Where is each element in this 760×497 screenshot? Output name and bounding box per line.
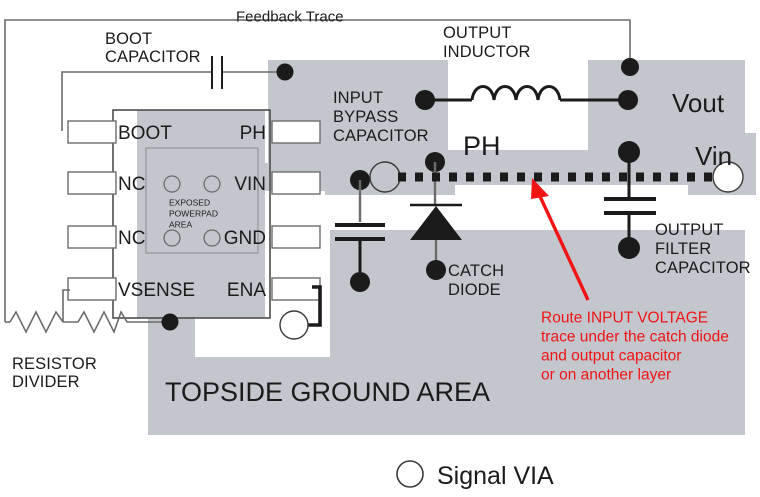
powerpad-label-line2: POWERPAD	[169, 208, 218, 218]
ph-node-label: PH	[463, 131, 501, 161]
catch-diode-label-line1: CATCH	[448, 262, 504, 280]
pin-label-boot: BOOT	[118, 123, 172, 144]
resistor-divider-label-line2: DIVIDER	[12, 373, 80, 391]
input-bypass-ground-pad	[350, 272, 370, 292]
pad-gnd	[272, 226, 320, 248]
output-filter-ground-pad	[618, 237, 640, 259]
resistor-divider-label-line1: RESISTOR	[12, 355, 97, 373]
inductor-coils	[472, 87, 560, 101]
pad-vsense	[68, 278, 116, 300]
route-note-line2: trace under the catch diode	[541, 328, 729, 345]
output-filter-label-line3: CAPACITOR	[655, 259, 751, 277]
route-note-line4: or on another layer	[541, 366, 671, 383]
topside-ground-area-label: TOPSIDE GROUND AREA	[165, 377, 490, 407]
pad-ena	[272, 278, 320, 300]
output-inductor-label-line1: OUTPUT	[443, 24, 511, 42]
route-note-line1: Route INPUT VOLTAGE	[541, 309, 708, 326]
catch-diode-ground-pad	[426, 260, 446, 280]
pin-label-ph: PH	[240, 123, 266, 144]
route-note-line3: and output capacitor	[541, 347, 681, 364]
pin-label-nc-1: NC	[118, 174, 145, 195]
pin-label-vsense: VSENSE	[118, 280, 195, 301]
pcb-layout-figure: Feedback Trace BOOT CAPACITOR BOOT NC NC…	[0, 0, 760, 497]
pin-label-ena: ENA	[227, 280, 266, 301]
input-bypass-label-line1: INPUT	[333, 89, 383, 107]
legend-signal-via-label: Signal VIA	[437, 462, 554, 490]
inductor-right-pad	[618, 90, 638, 110]
resistor-divider-ground-via	[162, 314, 179, 331]
output-filter-label-line2: FILTER	[655, 240, 711, 258]
legend-signal-via: Signal VIA	[397, 461, 554, 490]
feedback-trace-label: Feedback Trace	[236, 8, 344, 25]
vout-rail-label: Vout	[672, 88, 725, 118]
pad-boot	[68, 121, 116, 143]
output-filter-label-line1: OUTPUT	[655, 221, 723, 239]
pad-nc-1	[68, 172, 116, 194]
catch-diode-label-line2: DIODE	[448, 281, 501, 299]
feedback-trace-via	[621, 58, 639, 76]
input-bypass-label-line3: CAPACITOR	[333, 127, 429, 145]
ena-signal-via	[280, 311, 308, 339]
input-bypass-label-line2: BYPASS	[333, 108, 398, 126]
pad-ph	[272, 121, 320, 143]
resistor-upper	[10, 312, 63, 332]
pin-label-gnd: GND	[224, 228, 266, 249]
resistor-lower	[63, 312, 148, 332]
pad-vin	[272, 172, 320, 194]
output-inductor-label-line2: INDUCTOR	[443, 43, 531, 61]
catch-diode-triangle	[410, 206, 462, 240]
pin-label-vin: VIN	[234, 174, 266, 195]
powerpad-label-line3: AREA	[169, 219, 192, 229]
legend-via-icon	[397, 461, 423, 487]
boot-capacitor-label-line1: BOOT	[105, 30, 152, 48]
powerpad-label-line1: EXPOSED	[169, 197, 210, 207]
ph-boot-via-dot	[277, 64, 294, 81]
boot-capacitor-label-line2: CAPACITOR	[105, 48, 201, 66]
pad-nc-2	[68, 226, 116, 248]
pin-label-nc-2: NC	[118, 228, 145, 249]
pcb-layout-svg: Feedback Trace BOOT CAPACITOR BOOT NC NC…	[0, 0, 760, 497]
vin-rail-label: Vin	[695, 141, 732, 171]
